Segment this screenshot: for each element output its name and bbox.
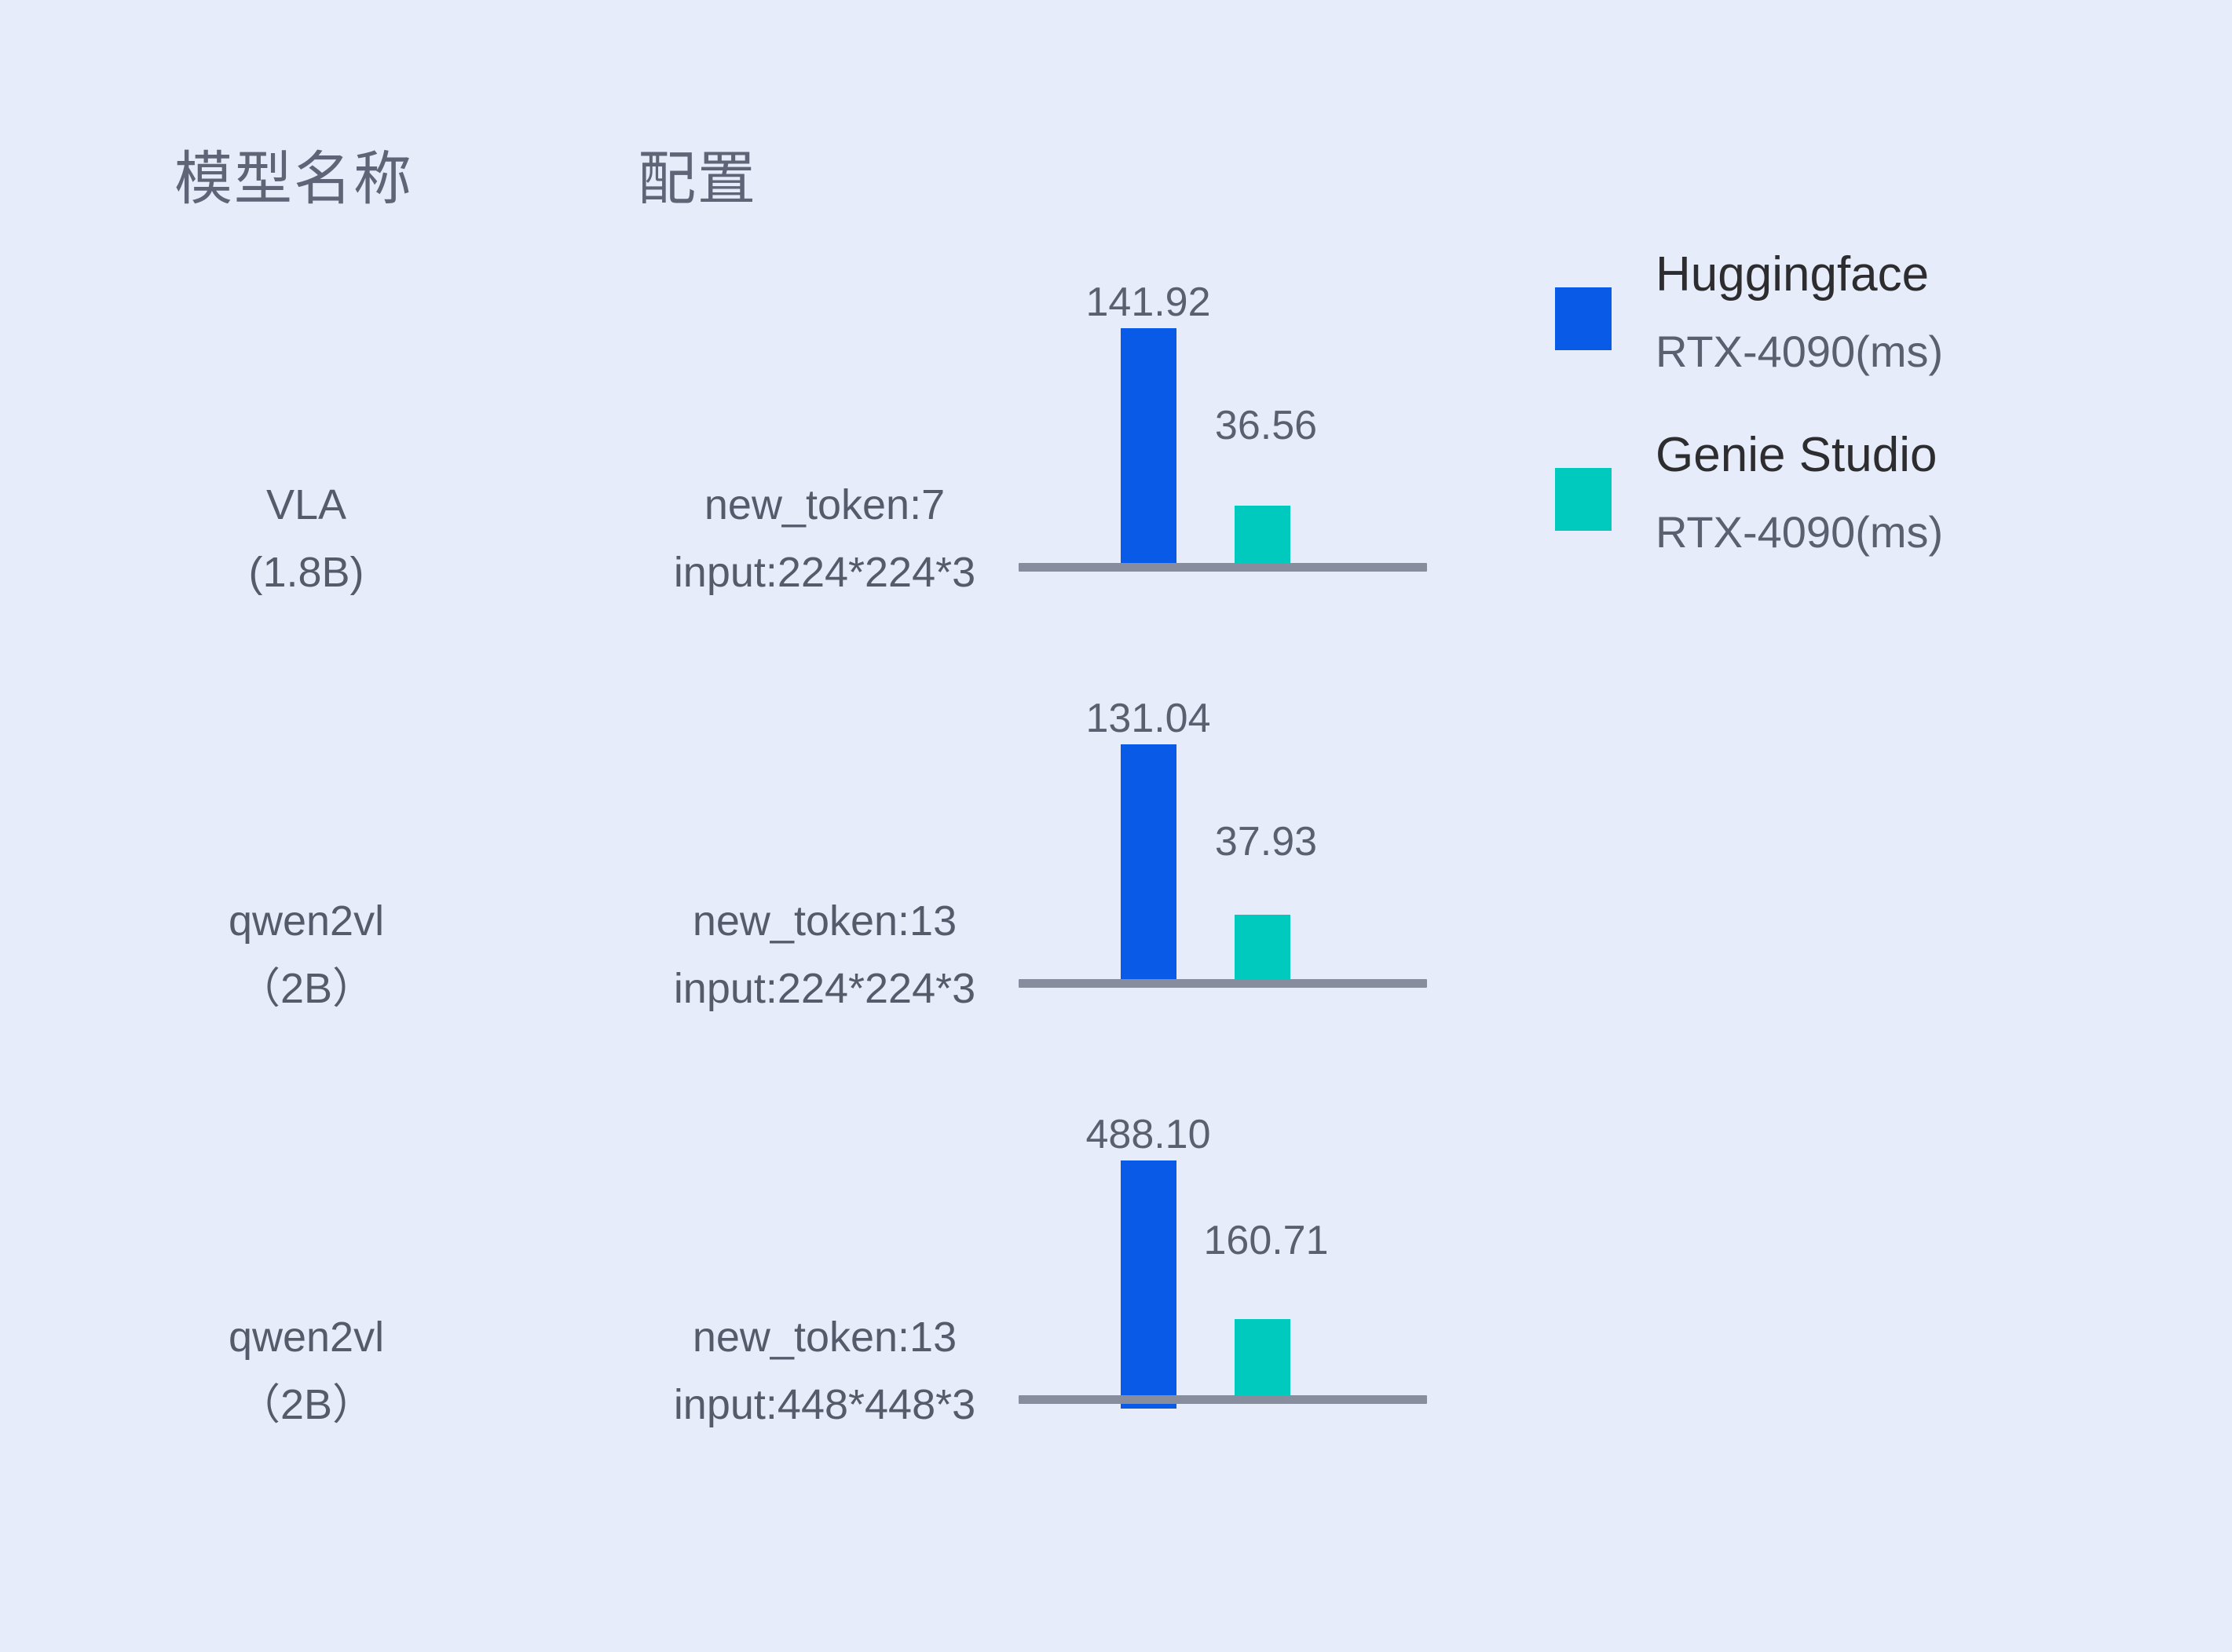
row-model-line2: （2B） [141, 1371, 471, 1438]
bar-genie[interactable] [1235, 506, 1290, 568]
bar-value-huggingface: 488.10 [1085, 1111, 1210, 1158]
row-model-label: qwen2vl （2B） [141, 887, 471, 1022]
row-config-line1: new_token:13 [693, 897, 957, 945]
bar-value-genie: 160.71 [1203, 1217, 1328, 1264]
row-model-line2: (1.8B) [141, 539, 471, 606]
legend-item-genie-studio[interactable]: Genie Studio RTX-4090(ms) [1539, 416, 2230, 597]
chart-row: qwen2vl （2B） new_token:13 input:224*224*… [0, 660, 2232, 1076]
bar-value-huggingface: 141.92 [1085, 279, 1210, 326]
column-header-model-name: 模型名称 [174, 132, 413, 216]
row-config-line1: new_token:13 [693, 1314, 957, 1361]
row-model-line2: （2B） [141, 955, 471, 1022]
chart-row: qwen2vl （2B） new_token:13 input:448*448*… [0, 1076, 2232, 1492]
chart-legend: Huggingface RTX-4090(ms) Genie Studio RT… [1539, 236, 2230, 597]
legend-title: Huggingface [1656, 236, 1943, 314]
baseline-axis [1019, 1395, 1427, 1404]
baseline-axis [1019, 979, 1427, 988]
row-config-line1: new_token:7 [704, 481, 945, 528]
bar-huggingface[interactable] [1121, 328, 1176, 568]
row-model-line1: qwen2vl [229, 1314, 384, 1361]
square-swatch-icon [1555, 287, 1612, 350]
baseline-axis [1019, 563, 1427, 572]
bar-value-genie: 37.93 [1215, 818, 1317, 865]
row-plot: 141.92 36.56 [1019, 243, 1427, 660]
row-plot: 488.10 160.71 [1019, 1076, 1427, 1492]
row-plot: 131.04 37.93 [1019, 660, 1427, 1076]
column-header-config: 配置 [638, 132, 757, 216]
chart-canvas: 模型名称 配置 VLA (1.8B) new_token:7 input:224… [0, 0, 2232, 1652]
bar-value-huggingface: 131.04 [1085, 695, 1210, 742]
bar-huggingface[interactable] [1121, 1160, 1176, 1409]
row-model-line1: VLA [266, 481, 346, 528]
row-model-label: VLA (1.8B) [141, 471, 471, 606]
legend-subtitle: RTX-4090(ms) [1656, 495, 1943, 570]
bar-huggingface[interactable] [1121, 744, 1176, 984]
row-model-label: qwen2vl （2B） [141, 1303, 471, 1438]
bar-value-genie: 36.56 [1215, 402, 1317, 449]
legend-title: Genie Studio [1656, 416, 1943, 495]
legend-item-huggingface[interactable]: Huggingface RTX-4090(ms) [1539, 236, 2230, 416]
row-model-line1: qwen2vl [229, 897, 384, 945]
square-swatch-icon [1555, 468, 1612, 531]
legend-subtitle: RTX-4090(ms) [1656, 314, 1943, 389]
bar-genie[interactable] [1235, 1319, 1290, 1400]
bar-genie[interactable] [1235, 915, 1290, 984]
